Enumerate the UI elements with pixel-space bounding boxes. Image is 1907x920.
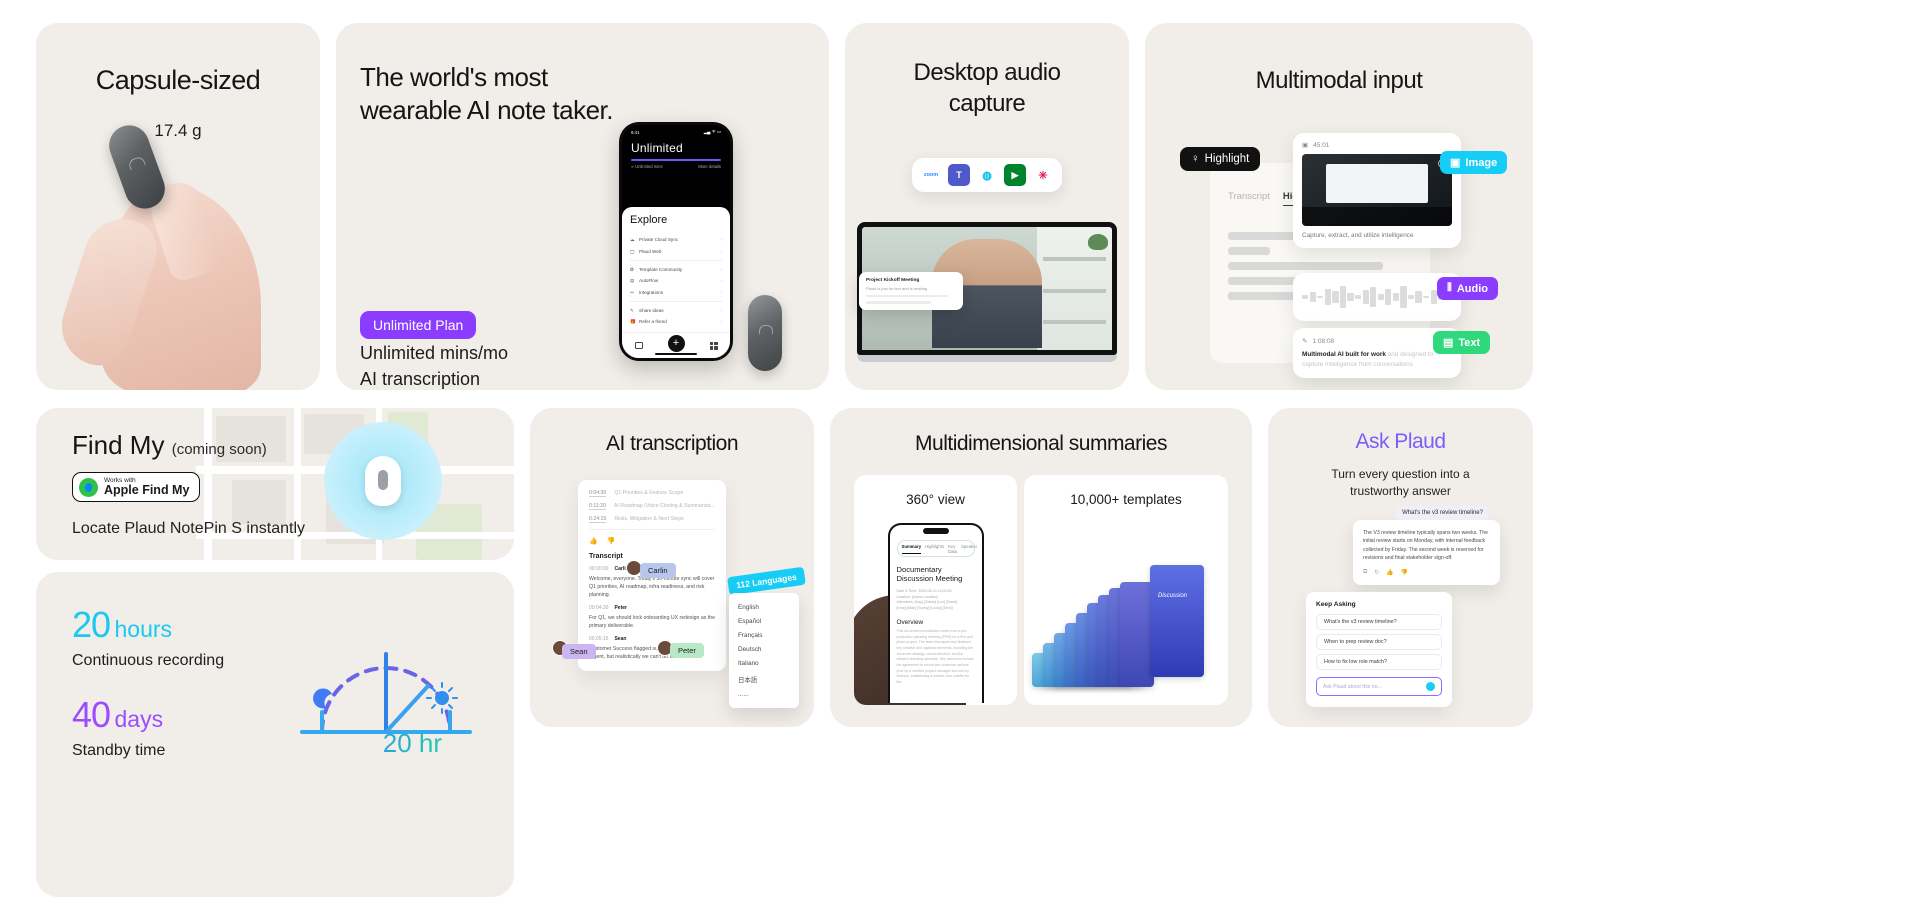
menu-item-private-cloud-sync[interactable]: ☁ Private Cloud Sync ›	[630, 234, 722, 245]
keep-asking-panel: Keep Asking What's the v3 review timelin…	[1306, 592, 1452, 707]
grid-icon[interactable]	[710, 342, 718, 350]
chat-icon: ✎	[630, 308, 635, 313]
image-icon: ▣	[1302, 141, 1308, 149]
send-icon[interactable]	[1426, 682, 1435, 691]
suggestion-chip[interactable]: What's the v3 review timeline?	[1316, 614, 1442, 630]
thumbs-down-icon[interactable]: 👎	[1401, 569, 1408, 576]
refresh-icon[interactable]: ↻	[1374, 569, 1379, 576]
sun-icon	[427, 683, 457, 713]
feedback-tools: 👍 👎	[589, 529, 715, 545]
sub-card-caption: 10,000+ templates	[1024, 492, 1228, 507]
card-multimodal-input: Multimodal input Transcript Highlight ♀ …	[1145, 23, 1533, 390]
sub-card-caption: 360° view	[854, 492, 1017, 507]
chapter-text: Q1 Priorities & Feature Scope	[614, 490, 683, 497]
flow-icon: ▤	[630, 278, 635, 283]
tab-transcript[interactable]: Transcript	[1228, 191, 1270, 206]
transcription-title: AI transcription	[530, 432, 814, 456]
text-card-strong: Multimodal AI built for work	[1302, 351, 1386, 358]
chapter-row[interactable]: 0:04:30 Q1 Priorities & Feature Scope	[589, 490, 715, 497]
status-icons: ▂▄ ᯤ ▭	[704, 129, 721, 135]
hand-illustration	[63, 146, 293, 390]
menu-label: Plaud Web	[639, 249, 661, 254]
skeleton-line	[866, 295, 949, 298]
entry-text: For Q1, we should lock onboarding UX red…	[589, 614, 715, 630]
laptop-base	[857, 355, 1117, 362]
unlimited-plan-chip[interactable]: Unlimited Plan	[360, 311, 476, 339]
teams-icon: T	[948, 164, 970, 186]
skeleton-line	[866, 301, 931, 304]
transcript-entry-meta: 00:05:15 Sean	[589, 636, 715, 642]
badge-text[interactable]: ▤ Text	[1433, 331, 1490, 354]
status-time: 9:41	[631, 130, 640, 135]
card-battery-life: 20 hours Continuous recording 40 days St…	[36, 572, 514, 897]
days-value: 40	[72, 694, 110, 735]
desktop-title: Desktop audio capture	[845, 57, 1129, 119]
template-card-fan: Discussion	[1032, 537, 1220, 687]
speaker-tag-sean: Sean	[562, 644, 596, 659]
entry-time: 00:05:15	[589, 636, 608, 642]
ask-answer-text: The V3 review timeline typically spans t…	[1363, 529, 1490, 562]
card-multidimensional-summaries: Multidimensional summaries 360° view Sum…	[830, 408, 1252, 727]
days-label: Standby time	[72, 742, 165, 760]
menu-divider	[630, 260, 722, 261]
language-option[interactable]: 日本語	[729, 671, 799, 687]
laptop-mockup: Project Kickoff Meeting Plaud is just fo…	[857, 222, 1117, 362]
summary-tab-bar: Summary Highlights Key Data Speaker	[897, 540, 975, 557]
cloud-icon: ☁	[630, 237, 635, 242]
language-option[interactable]: Español	[729, 614, 799, 628]
badge-image[interactable]: ▣ Image	[1440, 151, 1507, 174]
badge-audio[interactable]: ⦀ Audio	[1437, 277, 1498, 300]
plaud-notepin-device-icon	[748, 295, 782, 371]
badge-main-text: Apple Find My	[104, 484, 189, 497]
chevron-right-icon: ›	[721, 267, 722, 272]
wearable-title: The world's most wearable AI note taker.	[360, 61, 613, 128]
phone-explore-sheet: Explore ☁ Private Cloud Sync › 🖵 Plaud W…	[622, 207, 730, 358]
find-my-coming-soon: (coming soon)	[172, 441, 267, 458]
find-my-subtitle: Locate Plaud NotePin S instantly	[72, 520, 305, 538]
monitor-icon: 🖵	[630, 249, 635, 254]
phone-hero: Unlimited ∞ Unlimited mins More details	[622, 136, 730, 173]
gift-icon: 🎁	[630, 319, 635, 324]
summary-doc-title: Documentary Discussion Meeting	[897, 565, 975, 584]
map-location-pin	[324, 422, 442, 540]
chevron-right-icon: ›	[721, 319, 722, 324]
apple-find-my-badge: Works with Apple Find My	[72, 472, 200, 502]
note-popup-sub: Plaud is just for text and is reading	[866, 286, 956, 291]
mini-phone-mockup: Summary Highlights Key Data Speaker Docu…	[888, 523, 984, 703]
lead-template-label: Discussion	[1158, 593, 1187, 599]
bookshelf-background	[1037, 227, 1112, 350]
speaker-tag-carlin: Carlin	[640, 563, 676, 578]
webex-icon: ◍	[976, 164, 998, 186]
menu-divider	[630, 301, 722, 302]
chapter-row[interactable]: 0:24:15 Risks, Mitigation & Next Steps	[589, 516, 715, 523]
chevron-right-icon: ›	[721, 249, 722, 254]
keep-asking-title: Keep Asking	[1316, 601, 1442, 608]
badge-label: Audio	[1457, 283, 1488, 295]
badge-label: Text	[1458, 337, 1480, 349]
plus-icon[interactable]: +	[668, 335, 685, 352]
capsule-weight: 17.4 g	[36, 121, 320, 141]
language-option[interactable]: Deutsch	[729, 643, 799, 657]
language-option[interactable]: Français	[729, 628, 799, 642]
menu-item-share-ideas[interactable]: ✎ Share ideas ›	[630, 305, 722, 316]
tab-highlights[interactable]: Highlights	[925, 544, 944, 554]
chevron-right-icon: ›	[721, 278, 722, 283]
text-timestamp: 1:08:08	[1312, 338, 1334, 345]
battery-days-stat: 40 days	[72, 694, 163, 736]
chapter-time: 0:04:30	[589, 490, 606, 497]
plant-icon	[1088, 234, 1108, 250]
capsule-title: Capsule-sized	[36, 65, 320, 96]
ask-question-bubble: What's the v3 review timeline?	[1395, 506, 1490, 520]
copy-icon[interactable]: ⧉	[1363, 569, 1367, 576]
app-icon-row: zoom T ◍ ▶ ✳	[912, 158, 1062, 192]
multimodal-audio-card	[1293, 273, 1461, 321]
sub-card-360-view: 360° view Summary Highlights Key Data Sp…	[854, 475, 1017, 705]
lead-template-card: Discussion	[1150, 565, 1204, 677]
phone-meta-right[interactable]: More details	[698, 164, 721, 169]
hours-unit: hours	[115, 616, 173, 642]
note-popup-title: Project Kickoff Meeting	[866, 278, 956, 283]
ask-plaud-subtitle: Turn every question into a trustworthy a…	[1268, 466, 1533, 501]
presentation-screen	[1326, 164, 1428, 203]
audience-silhouette	[1302, 207, 1452, 226]
plug-icon: ⚯	[630, 290, 635, 295]
image-card-meta: ▣ 45:01	[1302, 141, 1452, 149]
chapter-row[interactable]: 0:11:20 AI Roadmap (Voice Cloning & Summ…	[589, 503, 715, 510]
language-option[interactable]: Italiano	[729, 657, 799, 671]
summary-doc-meta: Date & Time: 2025-06-19 14:04:20 Locatio…	[897, 589, 975, 612]
phone-hero-title: Unlimited	[631, 141, 721, 155]
chevron-right-icon: ›	[721, 308, 722, 313]
chapter-time: 0:11:20	[589, 503, 606, 510]
phone-meta-left: ∞ Unlimited mins	[631, 164, 663, 169]
hours-value: 20	[72, 604, 110, 645]
sub-card-templates: 10,000+ templates Discussion	[1024, 475, 1228, 705]
badge-label: Image	[1465, 157, 1497, 169]
summary-body-text: This document consolidates notes from a …	[897, 629, 975, 686]
transcript-entry-meta: 00:04:30 Peter	[589, 605, 715, 611]
tab-key-data[interactable]: Key Data	[948, 544, 957, 554]
menu-label: Private Cloud Sync	[639, 237, 678, 242]
image-caption: Capture, extract, and utilize intelligen…	[1302, 232, 1452, 239]
plan-progress-bar	[631, 159, 721, 161]
phone-notch	[659, 128, 693, 136]
phone-mockup: 9:41 ▂▄ ᯤ ▭ Unlimited ∞ Unlimited mins M…	[619, 122, 733, 361]
entry-time: 00:04:30	[589, 605, 608, 611]
languages-chip: 112 Languages	[727, 567, 806, 596]
entry-time: 00:00:00	[589, 566, 608, 572]
card-capsule-sized: Capsule-sized 17.4 g	[36, 23, 320, 390]
entry-speaker: Sean	[614, 636, 626, 642]
text-card-body: Multimodal AI built for work and designe…	[1302, 350, 1452, 369]
entry-text: Welcome, everyone. Today's 30-minute syn…	[589, 575, 715, 599]
slack-icon: ✳	[1032, 164, 1054, 186]
menu-label: Share ideas	[639, 308, 664, 313]
document-icon: ▤	[1443, 336, 1453, 349]
language-dropdown[interactable]: English Español Français Deutsch Italian…	[729, 593, 799, 708]
thumbs-down-icon[interactable]: 👎	[607, 537, 616, 545]
card-ask-plaud: Ask Plaud Turn every question into a tru…	[1268, 408, 1533, 727]
speaker-tag-peter: Peter	[670, 643, 704, 658]
menu-item-template-community[interactable]: ✪ Template Community ›	[630, 264, 722, 275]
days-unit: days	[115, 706, 164, 732]
card-find-my: Find My (coming soon) Works with Apple F…	[36, 408, 514, 560]
apple-find-my-icon	[79, 478, 98, 497]
hours-label: Continuous recording	[72, 652, 224, 670]
summary-section-heading: Overview	[897, 619, 975, 626]
dial-label: 20 hr	[383, 728, 442, 759]
highlight-pill[interactable]: ♀ Highlight	[1180, 147, 1260, 171]
card-desktop-audio-capture: Desktop audio capture zoom T ◍ ▶ ✳ Proje…	[845, 23, 1129, 390]
answer-tools: ⧉ ↻ 👍 👎	[1363, 569, 1490, 576]
multimodal-image-card: ▣ 45:01 × Capture, extract, and utilize …	[1293, 133, 1461, 248]
tab-speaker[interactable]: Speaker	[961, 544, 977, 554]
menu-item-plaud-web[interactable]: 🖵 Plaud Web ›	[630, 245, 722, 256]
rocket-icon: ✪	[630, 267, 635, 272]
phone-notch	[923, 528, 949, 534]
meet-icon: ▶	[1004, 164, 1026, 186]
menu-item-autoflow[interactable]: ▤ AutoFlow ›	[630, 275, 722, 286]
input-placeholder: Ask Plaud about this no...	[1323, 684, 1382, 690]
captured-photo: ×	[1302, 154, 1452, 226]
find-my-title: Find My (coming soon)	[72, 430, 267, 461]
folder-icon[interactable]	[635, 342, 643, 349]
chapter-text: AI Roadmap (Voice Cloning & Summariza...	[614, 503, 715, 510]
explore-heading: Explore	[630, 214, 722, 226]
menu-label: Integrations	[639, 290, 663, 295]
menu-item-integrations[interactable]: ⚯ Integrations ›	[630, 287, 722, 298]
find-my-title-text: Find My	[72, 430, 164, 460]
plan-subtitle: Unlimited mins/mo AI transcription	[360, 341, 508, 390]
chevron-right-icon: ›	[721, 290, 722, 295]
card-ai-transcription: AI transcription 0:04:30 Q1 Priorities &…	[530, 408, 814, 727]
battery-hours-stat: 20 hours	[72, 604, 172, 646]
meeting-note-popup: Project Kickoff Meeting Plaud is just fo…	[859, 272, 963, 310]
pen-icon: ✎	[1302, 337, 1307, 345]
suggestion-chip[interactable]: When to prep review doc?	[1316, 634, 1442, 650]
suggestion-chip[interactable]: How to fix low role match?	[1316, 654, 1442, 670]
ask-plaud-input[interactable]: Ask Plaud about this no...	[1316, 677, 1442, 696]
language-option[interactable]: English	[729, 600, 799, 614]
chapter-text: Risks, Mitigation & Next Steps	[614, 516, 683, 523]
chapter-time: 0:24:15	[589, 516, 606, 523]
bulb-icon: ♀	[1191, 153, 1200, 165]
zoom-icon: zoom	[920, 164, 942, 186]
entry-speaker: Peter	[614, 605, 627, 611]
summaries-title: Multidimensional summaries	[830, 432, 1252, 456]
waveform-icon: ⦀	[1447, 282, 1452, 295]
ask-answer-card: What's the v3 review timeline? The V3 re…	[1353, 520, 1500, 585]
text-card-meta: ✎ 1:08:08	[1302, 337, 1452, 345]
image-timestamp: 45:01	[1313, 142, 1329, 149]
card-wearable-note-taker: The world's most wearable AI note taker.…	[336, 23, 829, 390]
thumbs-up-icon[interactable]: 👍	[1386, 569, 1393, 576]
transcript-heading: Transcript	[589, 553, 715, 560]
multimodal-title: Multimodal input	[1145, 67, 1533, 95]
feature-grid-page: Capsule-sized 17.4 g The world's most we…	[0, 0, 1907, 920]
thumbs-up-icon[interactable]: 👍	[589, 537, 598, 545]
language-option: ......	[729, 687, 799, 701]
menu-label: Refer a friend	[639, 319, 667, 324]
skeleton-line	[1228, 247, 1270, 255]
camera-icon: ▣	[1450, 156, 1460, 169]
menu-item-refer-a-friend[interactable]: 🎁 Refer a friend ›	[630, 316, 722, 327]
ask-plaud-title: Ask Plaud	[1268, 430, 1533, 454]
chevron-right-icon: ›	[721, 237, 722, 242]
skeleton-line	[1228, 262, 1383, 270]
menu-label: AutoFlow	[639, 278, 658, 283]
waveform-icon	[1302, 285, 1452, 309]
highlight-pill-label: Highlight	[1205, 153, 1250, 165]
tab-summary[interactable]: Summary	[902, 544, 922, 554]
menu-label: Template Community	[639, 267, 682, 272]
